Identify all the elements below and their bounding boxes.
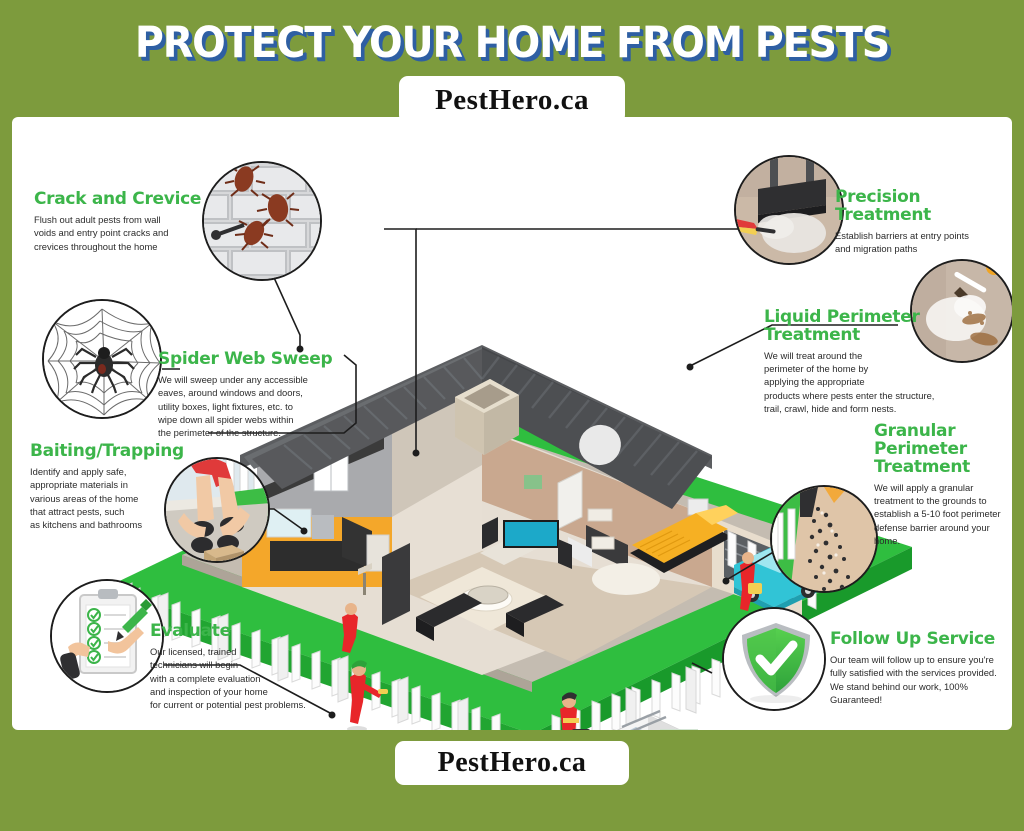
callout-heading: Granular Perimeter Treatment <box>874 423 1012 477</box>
callout-spider-web-sweep: Spider Web Sweep We will sweep under any… <box>158 351 340 440</box>
callout-follow-up-service: Follow Up Service Our team will follow u… <box>830 631 1012 706</box>
callout-body: We will treat around the perimeter of th… <box>764 349 979 416</box>
callout-body: Identify and apply safe, appropriate mat… <box>30 465 190 532</box>
callout-heading: Crack and Crevice <box>34 191 214 209</box>
callout-heading: Spider Web Sweep <box>158 351 340 369</box>
callout-body: We will apply a granular treatment to th… <box>874 481 1012 548</box>
callout-body: Establish barriers at entry points and m… <box>835 229 1012 256</box>
callout-body: We will sweep under any accessible eaves… <box>158 373 340 440</box>
content-card: Crack and Crevice Flush out adult pests … <box>12 117 1012 730</box>
callout-body: Our licensed, trained technicians will b… <box>150 645 360 712</box>
precision-treatment-bubble <box>734 155 844 265</box>
callout-body: Our team will follow up to ensure you're… <box>830 653 1012 706</box>
granular-perimeter-bubble <box>770 485 878 593</box>
callout-liquid-perimeter-treatment: Liquid Perimeter Treatment We will treat… <box>764 309 979 415</box>
brand-logo-bottom: PestHero.ca <box>395 741 629 785</box>
callout-heading: Baiting/Trapping <box>30 443 190 461</box>
callout-heading: Liquid Perimeter Treatment <box>764 309 979 345</box>
page-title: PROTECT YOUR HOME FROM PESTS <box>41 18 983 68</box>
callout-precision-treatment: Precision Treatment Establish barriers a… <box>835 189 1012 255</box>
follow-up-service-bubble <box>722 607 826 711</box>
infographic-poster: PROTECT YOUR HOME FROM PESTS PestHero.ca <box>0 0 1024 831</box>
callout-evaluate: Evaluate Our licensed, trained technicia… <box>150 623 360 712</box>
callout-heading: Precision Treatment <box>835 189 1012 225</box>
callout-granular-perimeter-treatment: Granular Perimeter Treatment We will app… <box>874 423 1012 547</box>
callout-body: Flush out adult pests from wall voids an… <box>34 213 214 253</box>
callout-heading: Follow Up Service <box>830 631 1012 649</box>
crack-and-crevice-bubble <box>202 161 322 281</box>
callout-heading: Evaluate <box>150 623 360 641</box>
evaluate-bubble <box>50 579 164 693</box>
spider-web-sweep-bubble <box>42 299 162 419</box>
callout-crack-and-crevice: Crack and Crevice Flush out adult pests … <box>34 191 214 253</box>
callout-baiting-trapping: Baiting/Trapping Identify and apply safe… <box>30 443 190 532</box>
